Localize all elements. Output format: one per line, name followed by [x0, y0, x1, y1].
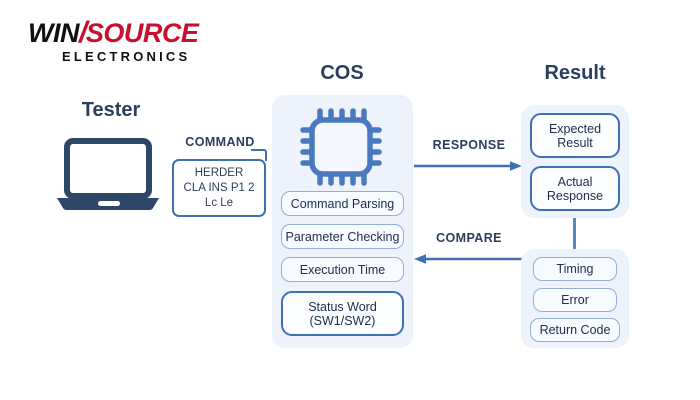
result-item-actual-response[interactable]: Actual Response [530, 166, 620, 211]
expected-result-line-1: Expected [549, 122, 601, 136]
result-item-return-code[interactable]: Return Code [530, 318, 620, 342]
command-label: COMMAND [172, 135, 268, 149]
result-item-expected-result[interactable]: Expected Result [530, 113, 620, 158]
command-line-3: Lc Le [205, 196, 233, 211]
diagram-canvas: WIN/SOURCE ELECTRONICS Tester COMMAND HE… [0, 0, 700, 400]
compare-arrow-icon [414, 253, 522, 265]
cos-step-command-parsing[interactable]: Command Parsing [281, 191, 404, 216]
cos-step-execution-time[interactable]: Execution Time [281, 257, 404, 282]
command-line-1: HERDER [195, 166, 244, 181]
result-item-error[interactable]: Error [533, 288, 617, 312]
result-item-timing[interactable]: Timing [533, 257, 617, 281]
command-box-tail-icon [250, 148, 268, 161]
result-heading: Result [525, 62, 625, 85]
result-panels-connector [573, 218, 576, 249]
logo-text-source: SOURCE [86, 18, 199, 49]
laptop-icon [54, 138, 162, 214]
command-line-2: CLA INS P1 2 [184, 181, 255, 196]
actual-response-line-1: Actual [547, 175, 603, 189]
logo-wordmark: WIN/SOURCE [28, 18, 198, 48]
logo-text-win: WIN [28, 18, 79, 49]
compare-arrow-label: COMPARE [420, 231, 518, 245]
tester-heading: Tester [61, 99, 161, 122]
response-arrow-icon [414, 160, 522, 172]
command-box: HERDER CLA INS P1 2 Lc Le [172, 159, 266, 217]
actual-response-line-2: Response [547, 189, 603, 203]
winsource-logo: WIN/SOURCE ELECTRONICS [28, 18, 238, 70]
cos-step-parameter-checking[interactable]: Parameter Checking [281, 224, 404, 249]
logo-tagline: ELECTRONICS [62, 49, 190, 64]
chip-icon [299, 108, 383, 186]
cos-heading: COS [292, 62, 392, 85]
status-word-line-2: (SW1/SW2) [308, 314, 377, 328]
response-arrow-label: RESPONSE [420, 138, 518, 152]
cos-step-status-word[interactable]: Status Word (SW1/SW2) [281, 291, 404, 336]
expected-result-line-2: Result [549, 136, 601, 150]
status-word-line-1: Status Word [308, 300, 377, 314]
